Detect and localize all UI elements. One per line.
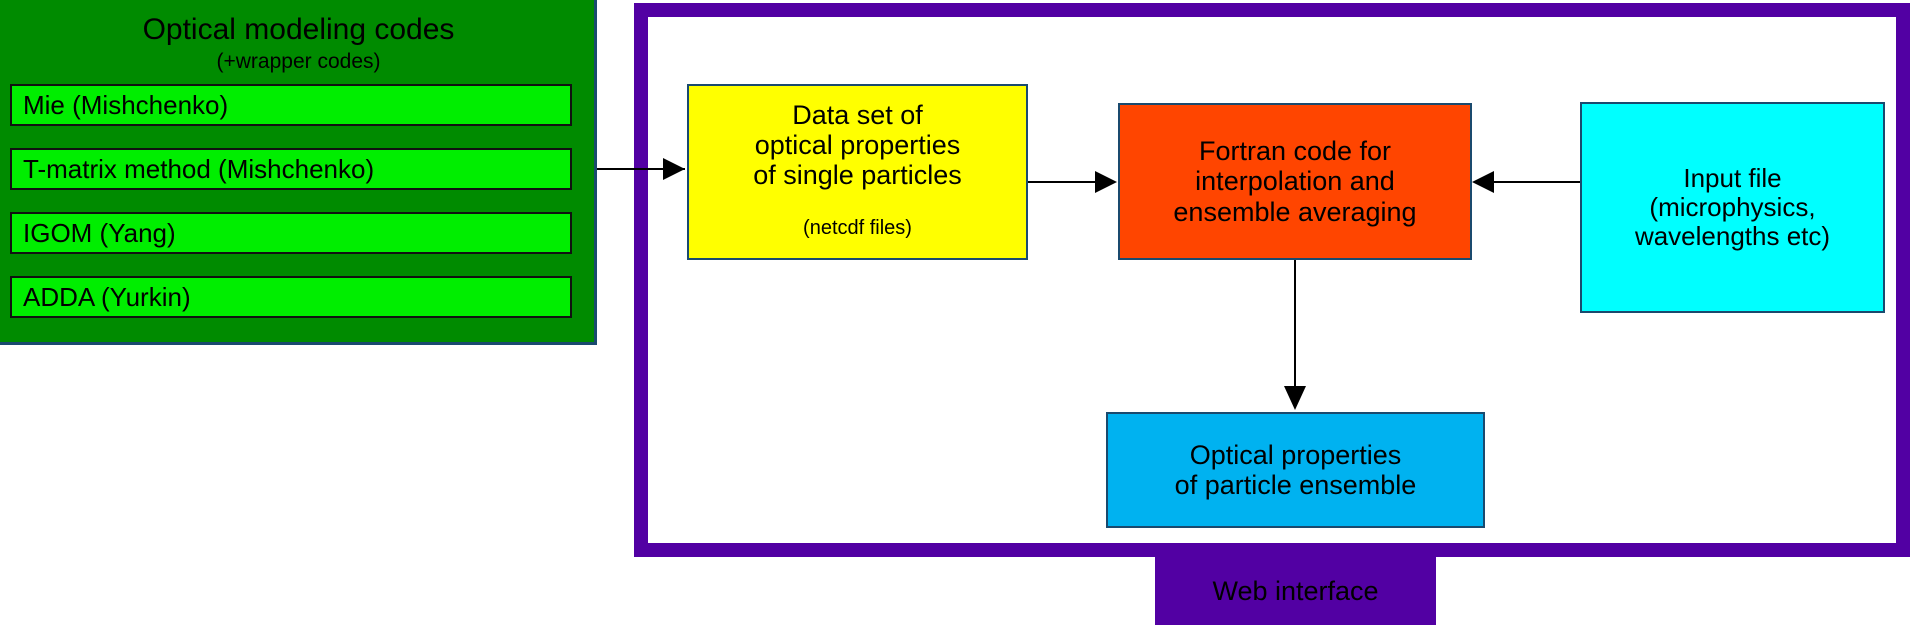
connector-input-to-fortran-line: [1494, 181, 1580, 183]
box-fortran-code: Fortran code for interpolation and ensem…: [1118, 103, 1472, 260]
dataset-line-2: optical properties: [755, 130, 961, 160]
dataset-file-format-note: (netcdf files): [803, 217, 912, 239]
fortran-line-2: interpolation and: [1195, 166, 1395, 196]
input-line-1: Input file: [1683, 164, 1781, 193]
code-item-t-matrix[interactable]: T-matrix method (Mishchenko): [10, 148, 572, 190]
optical-modeling-codes-panel: Optical modeling codes (+wrapper codes) …: [0, 0, 597, 345]
connector-fortran-to-output-line: [1294, 260, 1296, 388]
connector-fortran-to-output-arrow: [1284, 386, 1306, 410]
connector-codes-to-dataset-arrow: [663, 158, 685, 180]
output-line-2: of particle ensemble: [1175, 470, 1417, 500]
dataset-line-1: Data set of: [792, 100, 923, 130]
connector-dataset-to-fortran-line: [1028, 181, 1096, 183]
web-interface-label: Web interface: [1155, 557, 1436, 625]
panel-subtitle: (+wrapper codes): [0, 51, 597, 73]
connector-dataset-to-fortran-arrow: [1095, 171, 1117, 193]
input-line-2: (microphysics,: [1649, 193, 1815, 222]
box-dataset-optical-properties: Data set of optical properties of single…: [687, 84, 1028, 260]
input-line-3: wavelengths etc): [1635, 222, 1830, 251]
code-item-mie[interactable]: Mie (Mishchenko): [10, 84, 572, 126]
panel-title: Optical modeling codes: [0, 14, 597, 46]
output-line-1: Optical properties: [1190, 440, 1402, 470]
connector-input-to-fortran-arrow: [1472, 171, 1494, 193]
code-item-igom[interactable]: IGOM (Yang): [10, 212, 572, 254]
code-item-adda[interactable]: ADDA (Yurkin): [10, 276, 572, 318]
fortran-line-1: Fortran code for: [1199, 136, 1391, 166]
diagram-canvas: Optical modeling codes (+wrapper codes) …: [0, 0, 1915, 629]
dataset-line-3: of single particles: [753, 160, 962, 190]
box-output-ensemble-properties: Optical properties of particle ensemble: [1106, 412, 1485, 528]
box-input-file: Input file (microphysics, wavelengths et…: [1580, 102, 1885, 313]
fortran-line-3: ensemble averaging: [1173, 197, 1416, 227]
